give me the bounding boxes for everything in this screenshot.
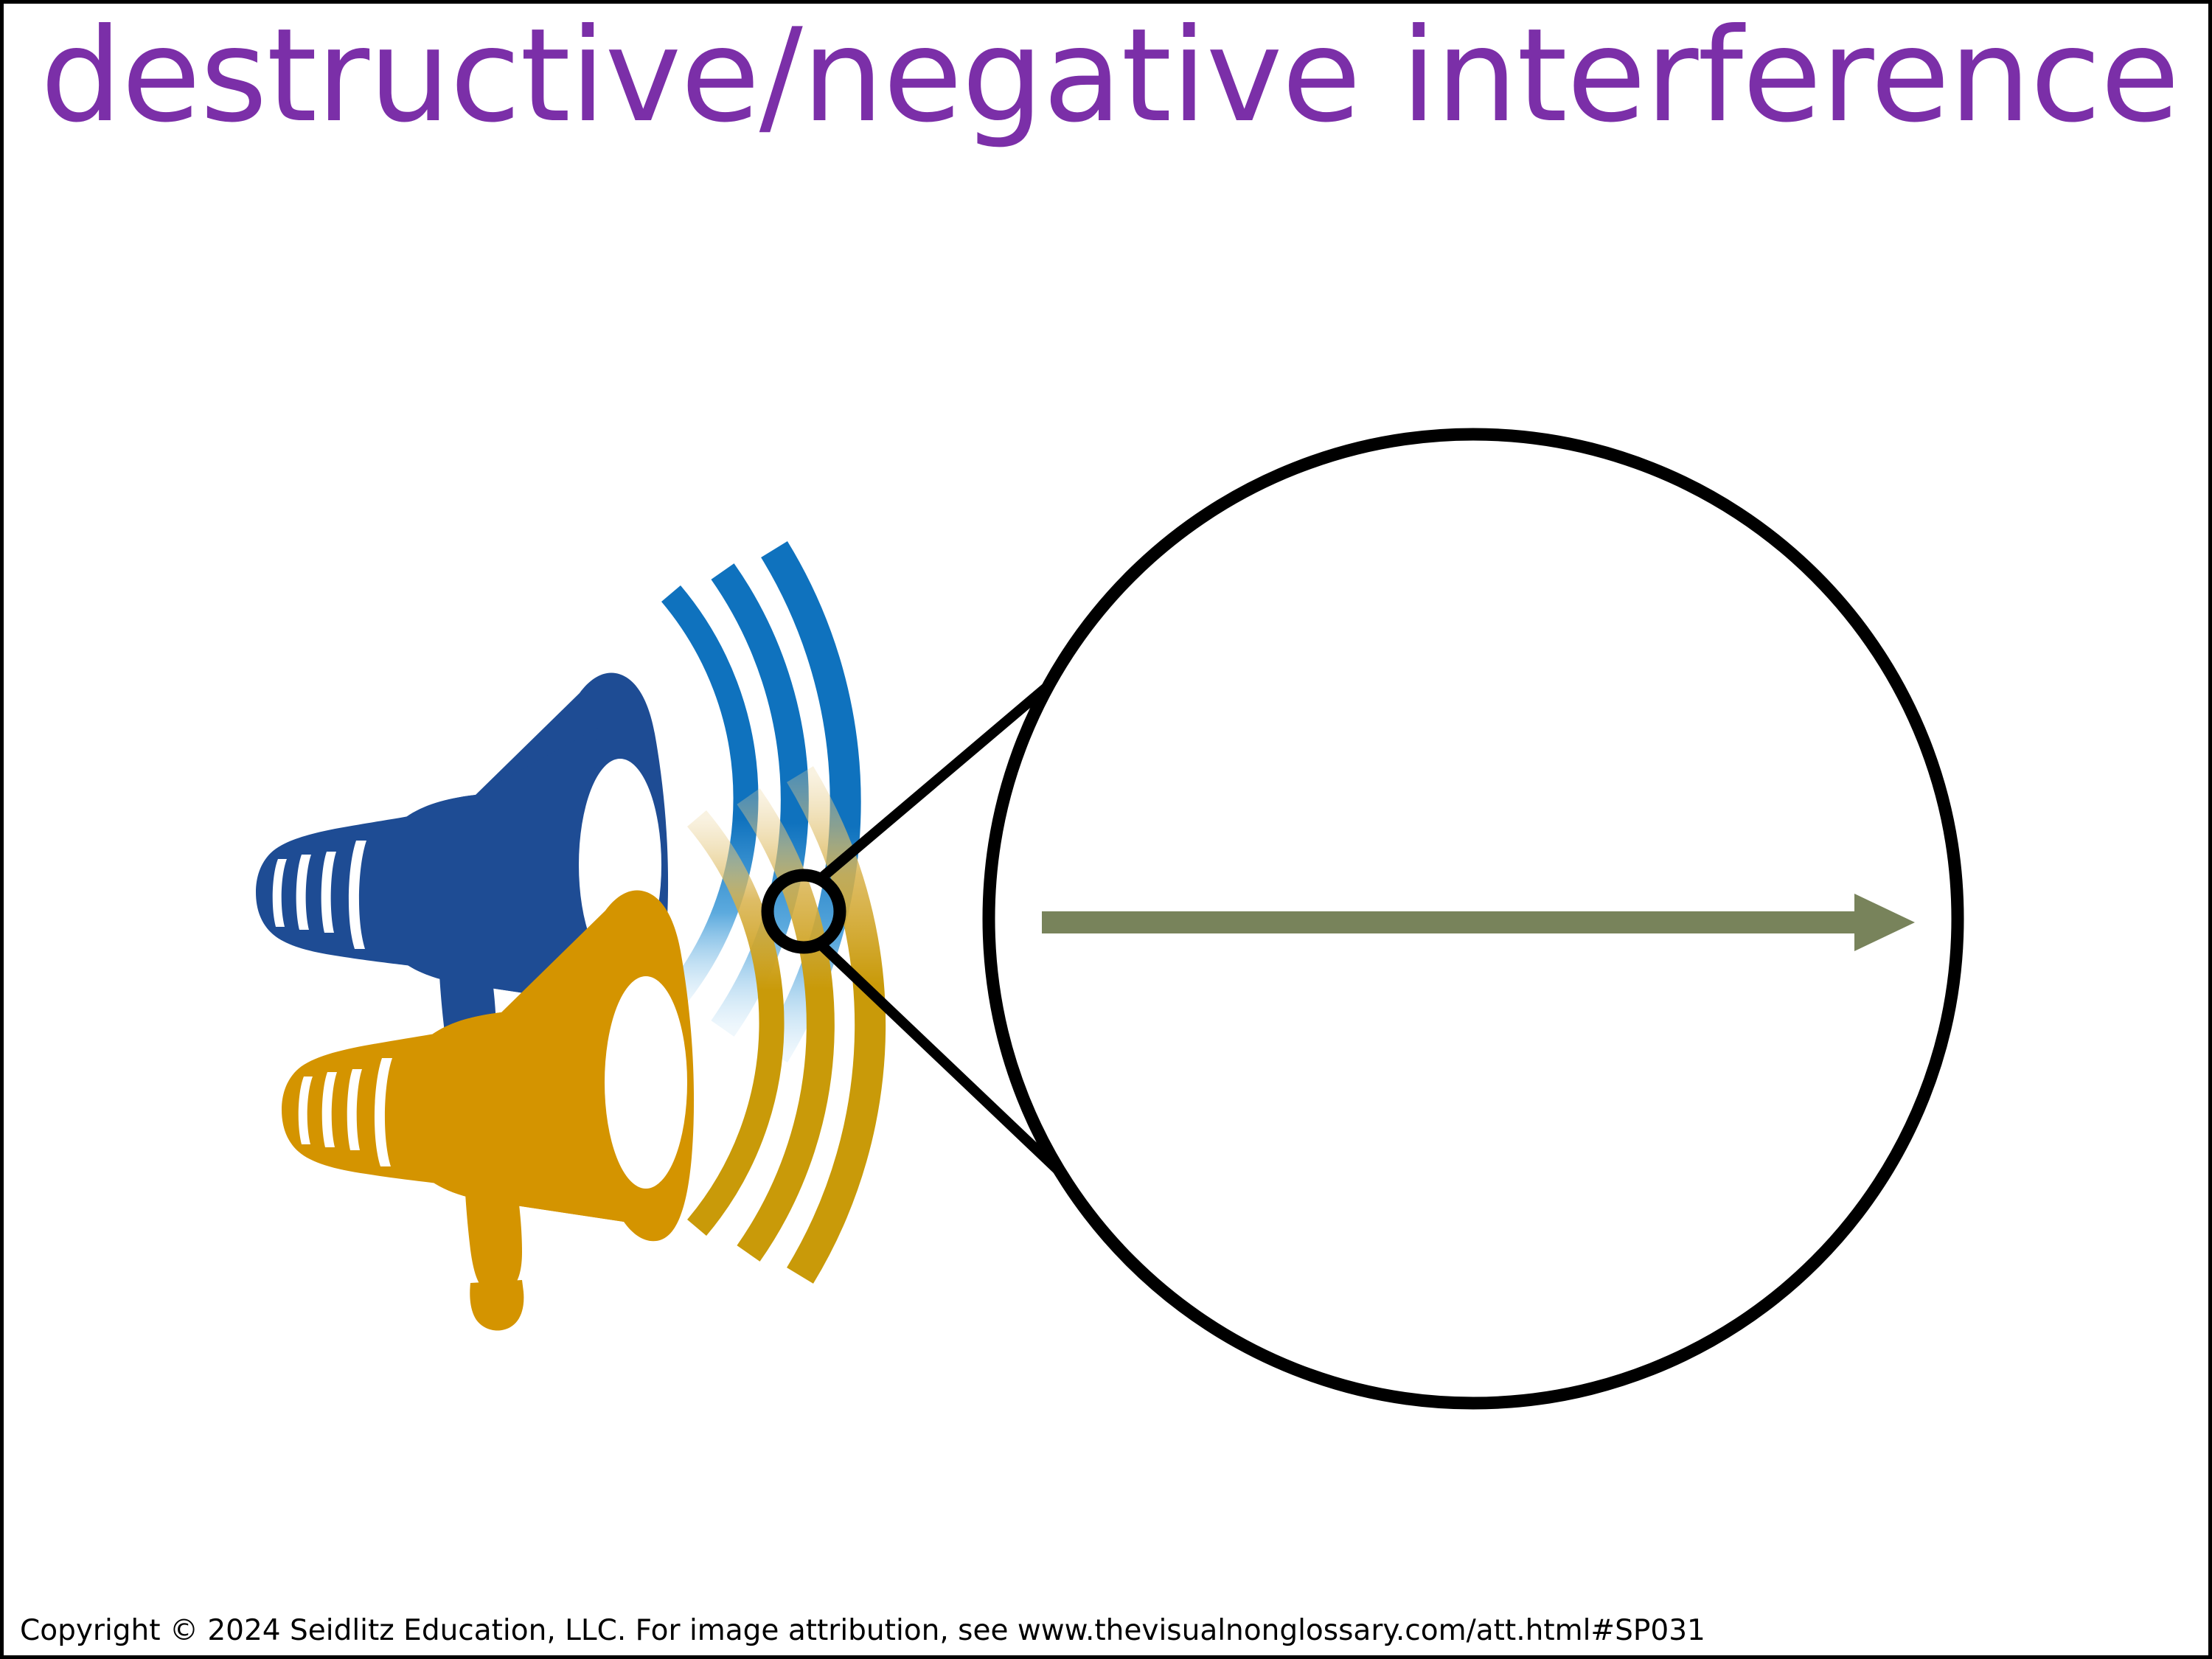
- copyright-footer: Copyright © 2024 Seidlitz Education, LLC…: [20, 1616, 1705, 1645]
- illustration-artboard: [4, 4, 2212, 1659]
- poster-page: destructive/negative interference: [0, 0, 2212, 1659]
